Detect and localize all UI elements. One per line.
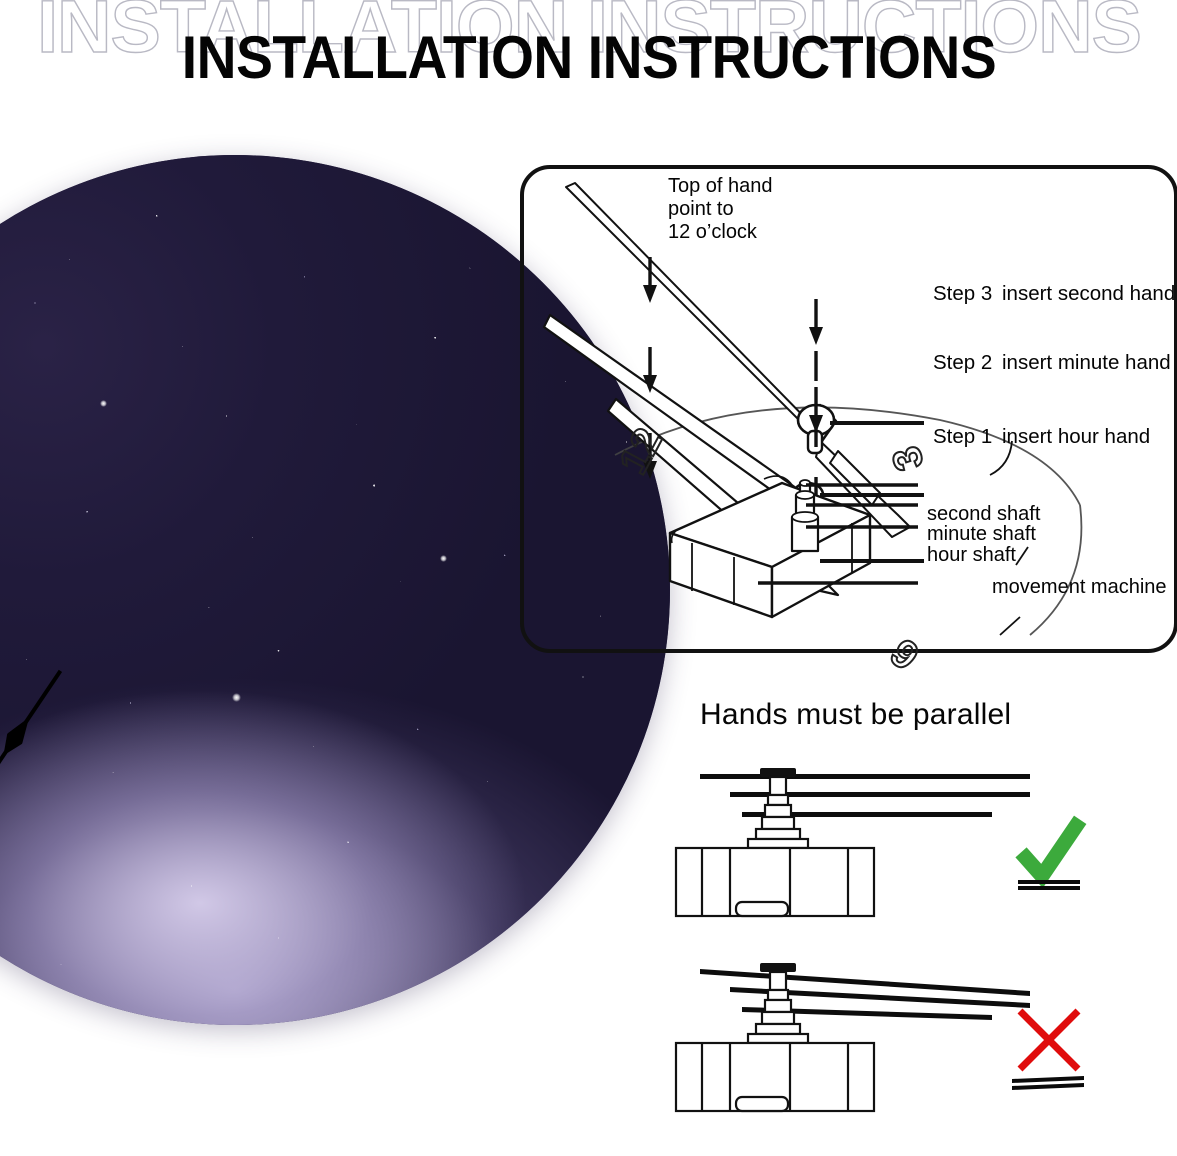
- step-1-name: Step 1: [933, 427, 992, 448]
- page-title: INSTALLATION INSTRUCTIONS: [181, 28, 995, 88]
- design-placeholder-text: UR DESIGN HERE: [0, 1017, 482, 1025]
- bright-star: [232, 693, 241, 702]
- bright-star: [440, 555, 447, 562]
- step-3-action: insert second hand: [1002, 284, 1175, 305]
- svg-text:12: 12: [611, 421, 671, 481]
- correct-assembly-illustration: [668, 760, 1108, 920]
- step-2-action: insert minute hand: [1002, 353, 1171, 374]
- note-line-3: 12 o’clock: [668, 222, 757, 242]
- cross-mark-icon: [1012, 1011, 1084, 1090]
- page-header: INSTALLATION INSTRUCTIONS INSTALLATION I…: [0, 0, 1177, 120]
- note-line-1: Top of hand: [668, 176, 773, 196]
- note-line-2: point to: [668, 199, 734, 219]
- part-hour-shaft: hour shaft: [927, 545, 1016, 565]
- svg-text:3: 3: [884, 441, 933, 476]
- bright-star: [100, 400, 107, 407]
- incorrect-assembly-illustration: [668, 955, 1108, 1130]
- step-2-name: Step 2: [933, 353, 992, 374]
- step-1-action: insert hour hand: [1002, 427, 1150, 448]
- part-movement-machine: movement machine: [992, 577, 1167, 597]
- svg-text:6: 6: [882, 630, 927, 678]
- part-second-shaft: second shaft: [927, 504, 1040, 524]
- check-mark-icon: [1018, 826, 1080, 890]
- parallel-section-title: Hands must be parallel: [700, 698, 1011, 732]
- part-minute-shaft: minute shaft: [927, 524, 1036, 544]
- step-3-name: Step 3: [933, 284, 992, 305]
